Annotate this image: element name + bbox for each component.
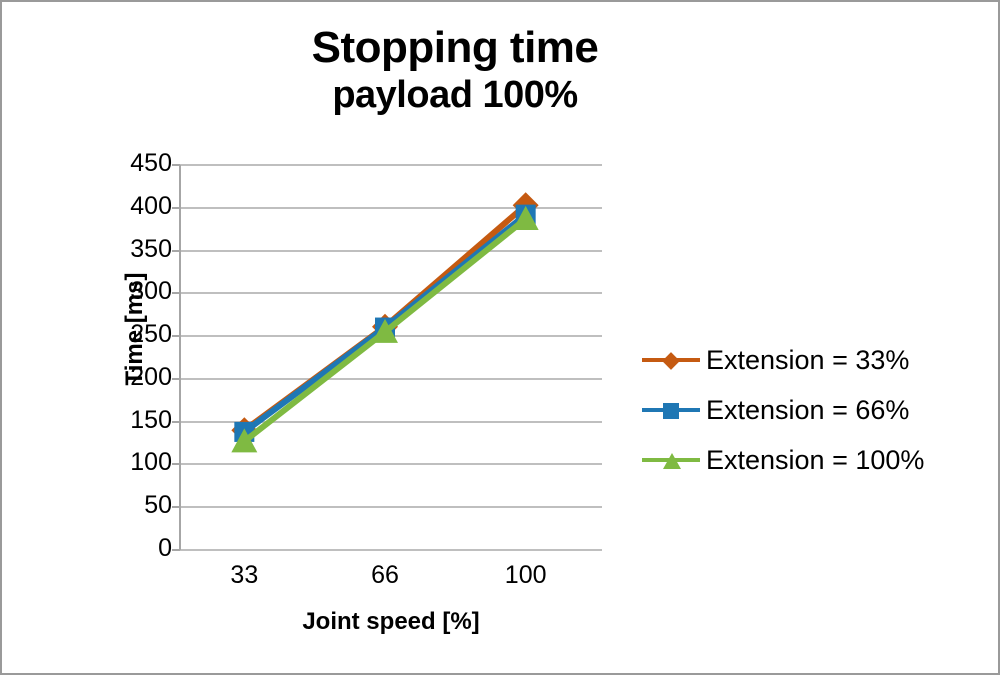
y-axis-tickmark bbox=[172, 207, 180, 209]
legend-marker-square bbox=[663, 403, 679, 419]
y-axis-tickmark bbox=[172, 378, 180, 380]
legend-swatch bbox=[642, 449, 700, 471]
y-axis-tickmark bbox=[172, 463, 180, 465]
chart-legend: Extension = 33%Extension = 66%Extension … bbox=[642, 335, 982, 485]
x-axis-tick-label: 100 bbox=[505, 561, 547, 590]
y-axis-tick-label: 450 bbox=[72, 149, 172, 178]
legend-marker-diamond bbox=[662, 352, 680, 370]
title-block: Stopping time payload 100% bbox=[2, 24, 998, 117]
x-axis-tick-label: 33 bbox=[230, 561, 258, 590]
legend-swatch bbox=[642, 349, 700, 371]
plot-area bbox=[180, 165, 602, 550]
y-axis-tickmark bbox=[172, 335, 180, 337]
legend-item[interactable]: Extension = 100% bbox=[642, 435, 982, 485]
y-axis-tick-label: 0 bbox=[72, 534, 172, 563]
y-axis-tick-label: 400 bbox=[72, 192, 172, 221]
plot-area-wrapper: 450400350300250200150100500 3366100 Join… bbox=[180, 165, 602, 550]
legend-label: Extension = 33% bbox=[706, 345, 909, 376]
series-triangle bbox=[231, 206, 538, 452]
y-axis-tickmark bbox=[172, 164, 180, 166]
chart-title: Stopping time bbox=[0, 24, 998, 72]
legend-item[interactable]: Extension = 33% bbox=[642, 335, 982, 385]
series-plot bbox=[180, 165, 602, 550]
chart-image-frame: Stopping time payload 100% 4504003503002… bbox=[0, 0, 1000, 675]
y-axis-tickmark bbox=[172, 250, 180, 252]
legend-label: Extension = 66% bbox=[706, 395, 909, 426]
legend-marker-triangle bbox=[663, 453, 681, 469]
y-axis-tick-label: 50 bbox=[72, 491, 172, 520]
y-axis-tick-label: 100 bbox=[72, 448, 172, 477]
legend-label: Extension = 100% bbox=[706, 445, 924, 476]
legend-swatch bbox=[642, 399, 700, 421]
x-axis-tick-label: 66 bbox=[371, 561, 399, 590]
legend-item[interactable]: Extension = 66% bbox=[642, 385, 982, 435]
y-axis-title: Time [ms] bbox=[121, 229, 149, 429]
chart-subtitle: payload 100% bbox=[0, 74, 998, 118]
y-axis-tickmark bbox=[172, 549, 180, 551]
y-axis-tickmark bbox=[172, 292, 180, 294]
y-axis-tickmark bbox=[172, 421, 180, 423]
y-axis-tickmark bbox=[172, 506, 180, 508]
x-axis-tick-labels: 3366100 bbox=[180, 561, 602, 601]
x-axis-title: Joint speed [%] bbox=[180, 608, 602, 636]
